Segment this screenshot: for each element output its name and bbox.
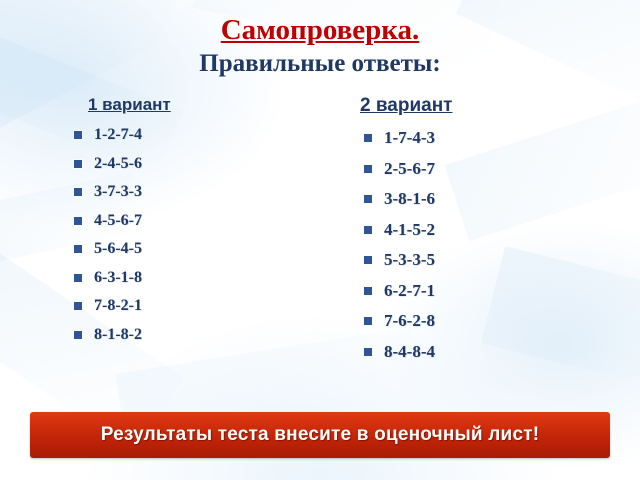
answer-text: 2-4-5-6 [94,155,142,172]
list-item: 1-7-4-3 [350,123,640,154]
list-item: 2-4-5-6 [60,150,320,179]
answer-text: 2-5-6-7 [384,159,435,178]
list-item: 7-6-2-8 [350,306,640,337]
list-item: 8-1-8-2 [60,321,320,350]
footer-banner: Результаты теста внесите в оценочный лис… [30,412,610,458]
answer-text: 5-3-3-5 [384,250,435,269]
answers-columns: 1 вариант 1-2-7-4 2-4-5-6 3-7-3-3 4-5-6-… [0,81,640,367]
answer-text: 5-6-4-5 [94,240,142,257]
answers-column-variant-1: 1 вариант 1-2-7-4 2-4-5-6 3-7-3-3 4-5-6-… [0,95,320,367]
answer-list-variant-2: 1-7-4-3 2-5-6-7 3-8-1-6 4-1-5-2 5-3-3-5 … [350,123,640,367]
list-item: 3-8-1-6 [350,184,640,215]
list-item: 5-3-3-5 [350,245,640,276]
list-item: 6-3-1-8 [60,264,320,293]
answers-column-variant-2: 2 вариант 1-7-4-3 2-5-6-7 3-8-1-6 4-1-5-… [320,95,640,367]
answer-text: 7-8-2-1 [94,297,142,314]
answer-text: 6-2-7-1 [384,281,435,300]
slide-title: Самопроверка. Правильные ответы: [0,0,640,81]
answer-text: 7-6-2-8 [384,311,435,330]
list-item: 2-5-6-7 [350,154,640,185]
list-item: 1-2-7-4 [60,121,320,150]
slide-canvas: Самопроверка. Правильные ответы: 1 вариа… [0,0,640,480]
list-item: 6-2-7-1 [350,276,640,307]
list-item: 5-6-4-5 [60,235,320,264]
footer-text: Результаты теста внесите в оценочный лис… [101,424,540,446]
answer-text: 1-2-7-4 [94,126,142,143]
answer-text: 3-8-1-6 [384,189,435,208]
answer-text: 8-4-8-4 [384,342,435,361]
list-item: 8-4-8-4 [350,337,640,368]
list-item: 3-7-3-3 [60,178,320,207]
list-item: 4-5-6-7 [60,207,320,236]
column-heading-variant-2: 2 вариант [360,95,640,117]
answer-text: 4-5-6-7 [94,212,142,229]
list-item: 7-8-2-1 [60,292,320,321]
answer-text: 8-1-8-2 [94,326,142,343]
title-secondary: Правильные ответы: [0,47,640,81]
answer-text: 1-7-4-3 [384,128,435,147]
title-primary: Самопроверка. [0,14,640,47]
list-item: 4-1-5-2 [350,215,640,246]
column-heading-variant-1: 1 вариант [88,95,320,115]
answer-list-variant-1: 1-2-7-4 2-4-5-6 3-7-3-3 4-5-6-7 5-6-4-5 … [60,121,320,349]
answer-text: 4-1-5-2 [384,220,435,239]
answer-text: 6-3-1-8 [94,269,142,286]
answer-text: 3-7-3-3 [94,183,142,200]
